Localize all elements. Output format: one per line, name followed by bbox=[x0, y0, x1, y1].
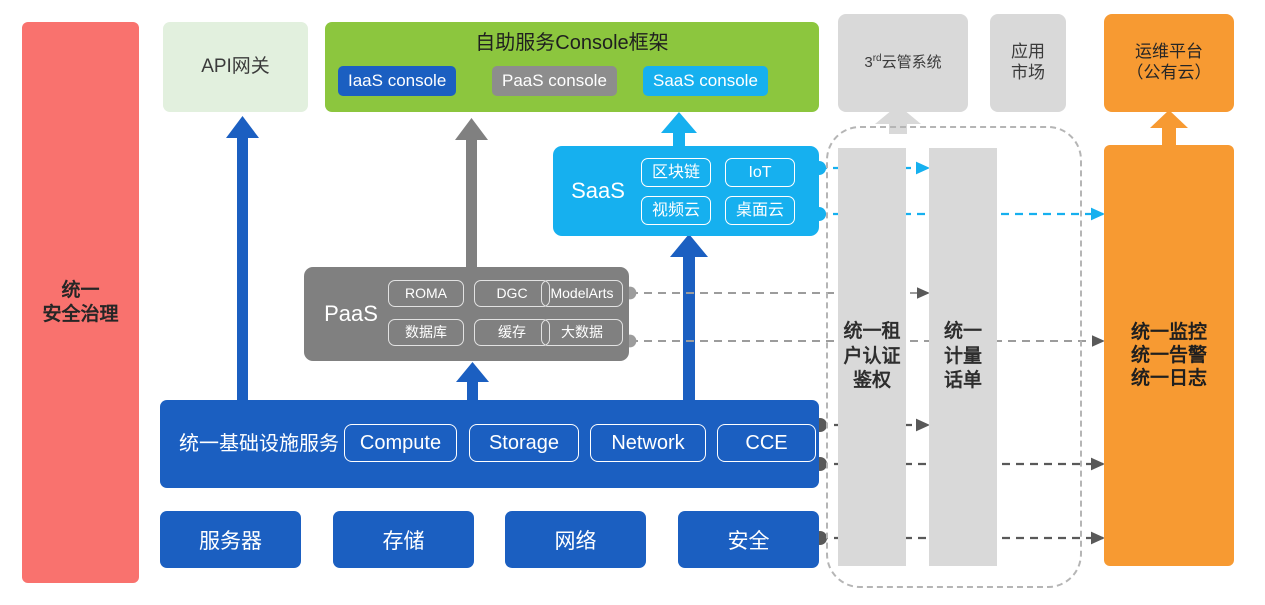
security-line2: 安全治理 bbox=[42, 304, 118, 325]
column-unified-tenant-auth[interactable]: 统一租 户认证 鉴权 bbox=[838, 148, 906, 566]
arrow-saas-to-console bbox=[661, 112, 697, 149]
ops-column-line3: 统一日志 bbox=[1131, 368, 1207, 389]
security-line1: 统一 bbox=[61, 280, 99, 301]
third-party-prefix: 3 bbox=[864, 54, 872, 71]
saas-console-button[interactable]: SaaS console bbox=[643, 66, 768, 96]
console-frame-title: 自助服务Console框架 bbox=[325, 31, 819, 55]
hardware-storage[interactable]: 存储 bbox=[333, 511, 474, 568]
paas-service-modelarts[interactable]: ModelArts bbox=[541, 280, 623, 307]
hardware-security[interactable]: 安全 bbox=[678, 511, 819, 568]
paas-service-bigdata[interactable]: 大数据 bbox=[541, 319, 623, 346]
api-gateway-box[interactable]: API网关 bbox=[163, 22, 308, 112]
arrow-paas-to-console bbox=[455, 118, 488, 268]
meter-line2: 计量 bbox=[944, 346, 982, 367]
paas-console-button[interactable]: PaaS console bbox=[492, 66, 617, 96]
arrow-infra-to-saas bbox=[670, 234, 708, 401]
hardware-network[interactable]: 网络 bbox=[505, 511, 646, 568]
app-market-line2: 市场 bbox=[1011, 63, 1045, 82]
infra-service-cce[interactable]: CCE bbox=[717, 424, 816, 462]
infra-service-network[interactable]: Network bbox=[590, 424, 706, 462]
column-unified-metering[interactable]: 统一 计量 话单 bbox=[929, 148, 997, 566]
paas-service-database[interactable]: 数据库 bbox=[388, 319, 464, 346]
arrow-infra-to-paas bbox=[456, 362, 489, 402]
iaas-console-button[interactable]: IaaS console bbox=[338, 66, 456, 96]
saas-service-desktop-cloud[interactable]: 桌面云 bbox=[725, 196, 795, 225]
auth-line1: 统一租 bbox=[843, 321, 900, 342]
self-service-console-frame: 自助服务Console框架 IaaS console PaaS console … bbox=[325, 22, 819, 112]
ops-platform-line1: 运维平台 bbox=[1135, 42, 1203, 61]
saas-service-iot[interactable]: IoT bbox=[725, 158, 795, 187]
ops-platform-box[interactable]: 运维平台 （公有云） bbox=[1104, 14, 1234, 112]
third-party-sup: rd bbox=[873, 53, 882, 64]
auth-line2: 户认证 bbox=[843, 346, 900, 367]
architecture-diagram: 统一租 户认证 鉴权 统一 计量 话单 统一 安全治理 API网关 自助服务Co… bbox=[0, 0, 1265, 605]
meter-line1: 统一 bbox=[944, 321, 982, 342]
meter-line3: 话单 bbox=[944, 370, 982, 391]
saas-service-video-cloud[interactable]: 视频云 bbox=[641, 196, 711, 225]
infra-service-storage[interactable]: Storage bbox=[469, 424, 579, 462]
unified-monitoring-column[interactable]: 统一监控 统一告警 统一日志 bbox=[1104, 145, 1234, 566]
auth-line3: 鉴权 bbox=[853, 370, 891, 391]
paas-layer-label: PaaS bbox=[312, 267, 390, 361]
third-party-cloud-mgmt-system[interactable]: 3rd云管系统 bbox=[838, 14, 968, 112]
paas-layer: PaaS ROMA DGC ModelArts 数据库 缓存 大数据 bbox=[304, 267, 629, 361]
saas-layer: SaaS 区块链 IoT 视频云 桌面云 bbox=[553, 146, 819, 236]
hardware-server[interactable]: 服务器 bbox=[160, 511, 301, 568]
paas-service-roma[interactable]: ROMA bbox=[388, 280, 464, 307]
api-gateway-label: API网关 bbox=[201, 55, 270, 78]
ops-column-line2: 统一告警 bbox=[1131, 345, 1207, 366]
app-market-box[interactable]: 应用 市场 bbox=[990, 14, 1066, 112]
paas-service-cache[interactable]: 缓存 bbox=[474, 319, 550, 346]
third-party-suffix: 云管系统 bbox=[882, 54, 942, 71]
unified-infrastructure-layer: 统一基础设施服务 Compute Storage Network CCE bbox=[160, 400, 819, 488]
unified-security-governance[interactable]: 统一 安全治理 bbox=[22, 22, 139, 583]
ops-column-line1: 统一监控 bbox=[1131, 322, 1207, 343]
arrow-infra-to-api-gateway bbox=[226, 116, 259, 400]
ops-platform-line2: （公有云） bbox=[1127, 63, 1212, 82]
saas-layer-label: SaaS bbox=[563, 146, 633, 236]
app-market-line1: 应用 bbox=[1011, 42, 1045, 61]
arrow-ops-column-to-platform bbox=[1150, 110, 1188, 146]
infrastructure-label: 统一基础设施服务 bbox=[174, 400, 344, 488]
paas-service-dgc[interactable]: DGC bbox=[474, 280, 550, 307]
saas-service-blockchain[interactable]: 区块链 bbox=[641, 158, 711, 187]
infra-service-compute[interactable]: Compute bbox=[344, 424, 457, 462]
